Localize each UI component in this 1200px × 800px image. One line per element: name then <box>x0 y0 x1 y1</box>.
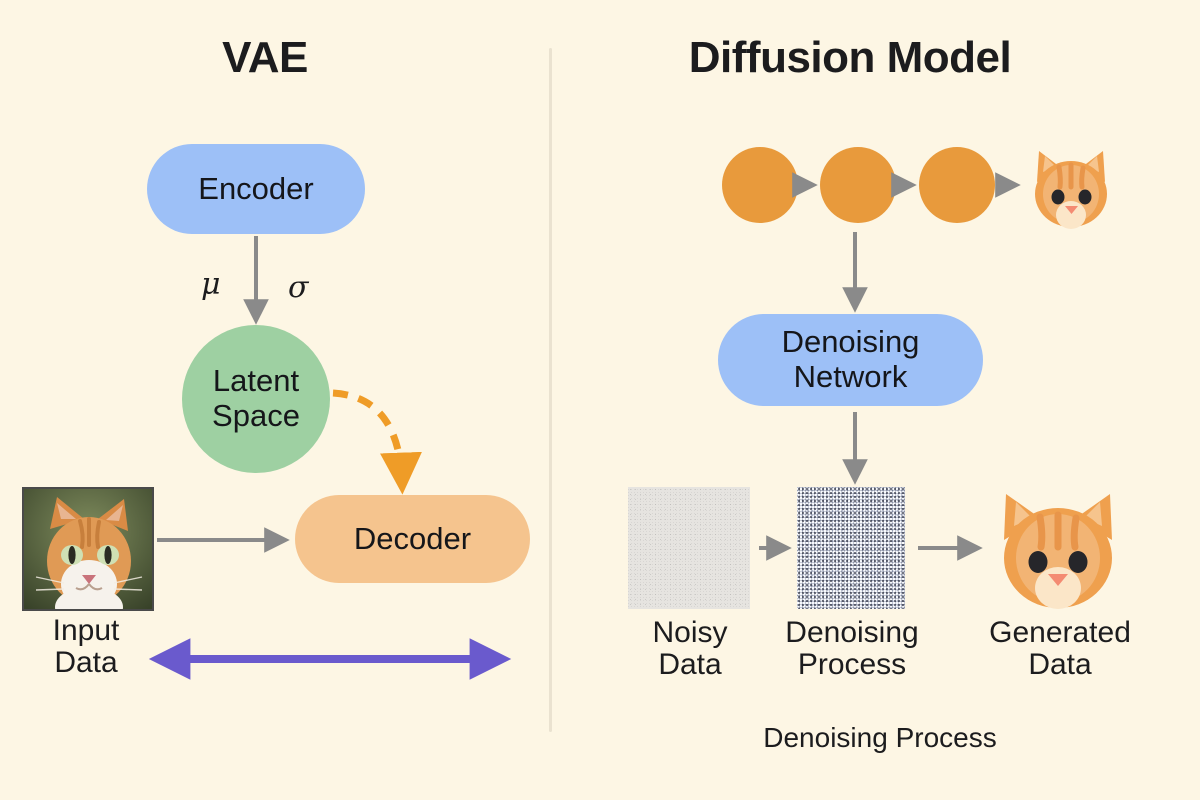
cat-face-emoji-icon <box>1025 142 1117 230</box>
arrow-latent-to-decoder-dashed <box>333 393 402 482</box>
cat-face-emoji-icon <box>988 482 1128 612</box>
sigma-label: σ <box>288 270 308 305</box>
decoder-node[interactable]: Decoder <box>295 495 530 583</box>
mu-label: μ <box>201 267 221 302</box>
diffusion-step-circle-3 <box>919 147 995 223</box>
diagram-canvas: VAE Encoder μ σ Latent Space Decoder <box>0 0 1200 800</box>
denoising-network-node[interactable]: Denoising Network <box>718 314 983 406</box>
noisy-data-caption: Noisy Data <box>614 617 766 682</box>
diffusion-step-circle-1 <box>722 147 798 223</box>
denoising-process-caption: Denoising Process <box>772 617 932 682</box>
denoising-process-bottom-caption: Denoising Process <box>660 722 1100 754</box>
diffusion-chain-cat-emoji <box>1025 142 1117 230</box>
diffusion-step-circle-2 <box>820 147 896 223</box>
generated-data-image <box>988 482 1128 612</box>
generated-data-caption: Generated Data <box>970 617 1150 682</box>
encoder-node[interactable]: Encoder <box>147 144 365 234</box>
input-data-caption: Input Data <box>10 615 162 680</box>
diffusion-panel-title: Diffusion Model <box>610 33 1090 83</box>
denoising-process-image <box>797 487 905 609</box>
vae-panel-title: VAE <box>120 33 410 83</box>
input-data-image <box>22 487 154 611</box>
latent-space-node[interactable]: Latent Space <box>182 325 330 473</box>
panel-divider <box>549 48 552 732</box>
noisy-data-image <box>628 487 750 609</box>
cat-photo-icon <box>24 489 152 609</box>
